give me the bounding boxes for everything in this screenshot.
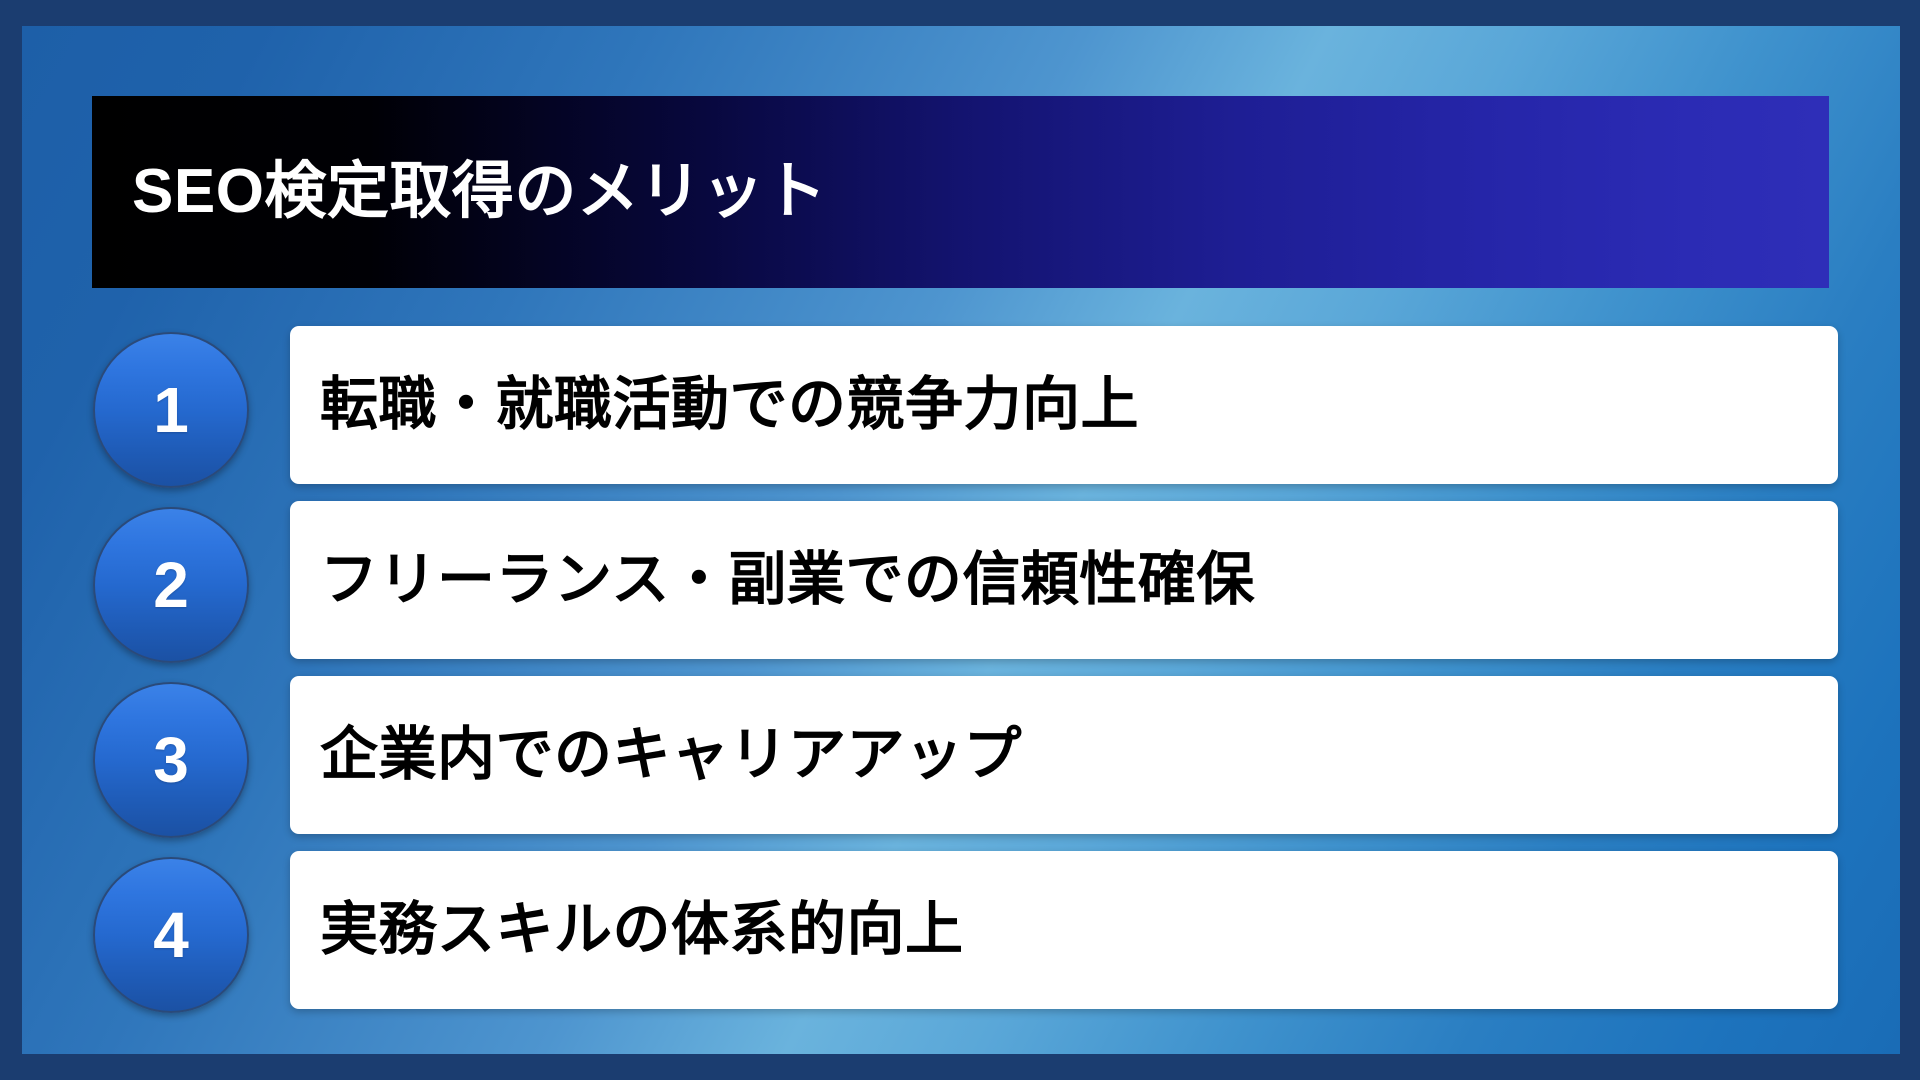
benefit-card[interactable]: 企業内でのキャリアアップ	[290, 676, 1838, 834]
benefit-number-badge: 2	[93, 507, 249, 663]
benefit-card[interactable]: 実務スキルの体系的向上	[290, 851, 1838, 1009]
benefit-label: 転職・就職活動での競争力向上	[290, 372, 1139, 439]
list-item[interactable]: 1 転職・就職活動での競争力向上	[22, 326, 1900, 498]
list-item[interactable]: 3 企業内でのキャリアアップ	[22, 676, 1900, 848]
benefit-number-badge: 1	[93, 332, 249, 488]
page-title: SEO検定取得のメリット	[92, 158, 827, 226]
benefit-card[interactable]: 転職・就職活動での競争力向上	[290, 326, 1838, 484]
list-item[interactable]: 4 実務スキルの体系的向上	[22, 851, 1900, 1023]
slide-root: SEO検定取得のメリット 1 転職・就職活動での競争力向上 2 フリーランス・副…	[0, 0, 1920, 1080]
benefit-number-badge: 4	[93, 857, 249, 1013]
benefit-number-label: 1	[153, 378, 189, 442]
benefit-label: 企業内でのキャリアアップ	[290, 722, 1022, 789]
benefit-number-badge: 3	[93, 682, 249, 838]
benefit-label: フリーランス・副業での信頼性確保	[290, 547, 1255, 614]
benefit-card[interactable]: フリーランス・副業での信頼性確保	[290, 501, 1838, 659]
slide-panel: SEO検定取得のメリット 1 転職・就職活動での競争力向上 2 フリーランス・副…	[22, 26, 1900, 1054]
benefit-list: 1 転職・就職活動での競争力向上 2 フリーランス・副業での信頼性確保 3	[22, 326, 1900, 1026]
benefit-number-label: 3	[153, 728, 189, 792]
list-item[interactable]: 2 フリーランス・副業での信頼性確保	[22, 501, 1900, 673]
benefit-number-label: 4	[153, 903, 189, 967]
benefit-number-label: 2	[153, 553, 189, 617]
title-banner: SEO検定取得のメリット	[92, 96, 1829, 288]
benefit-label: 実務スキルの体系的向上	[290, 897, 964, 964]
